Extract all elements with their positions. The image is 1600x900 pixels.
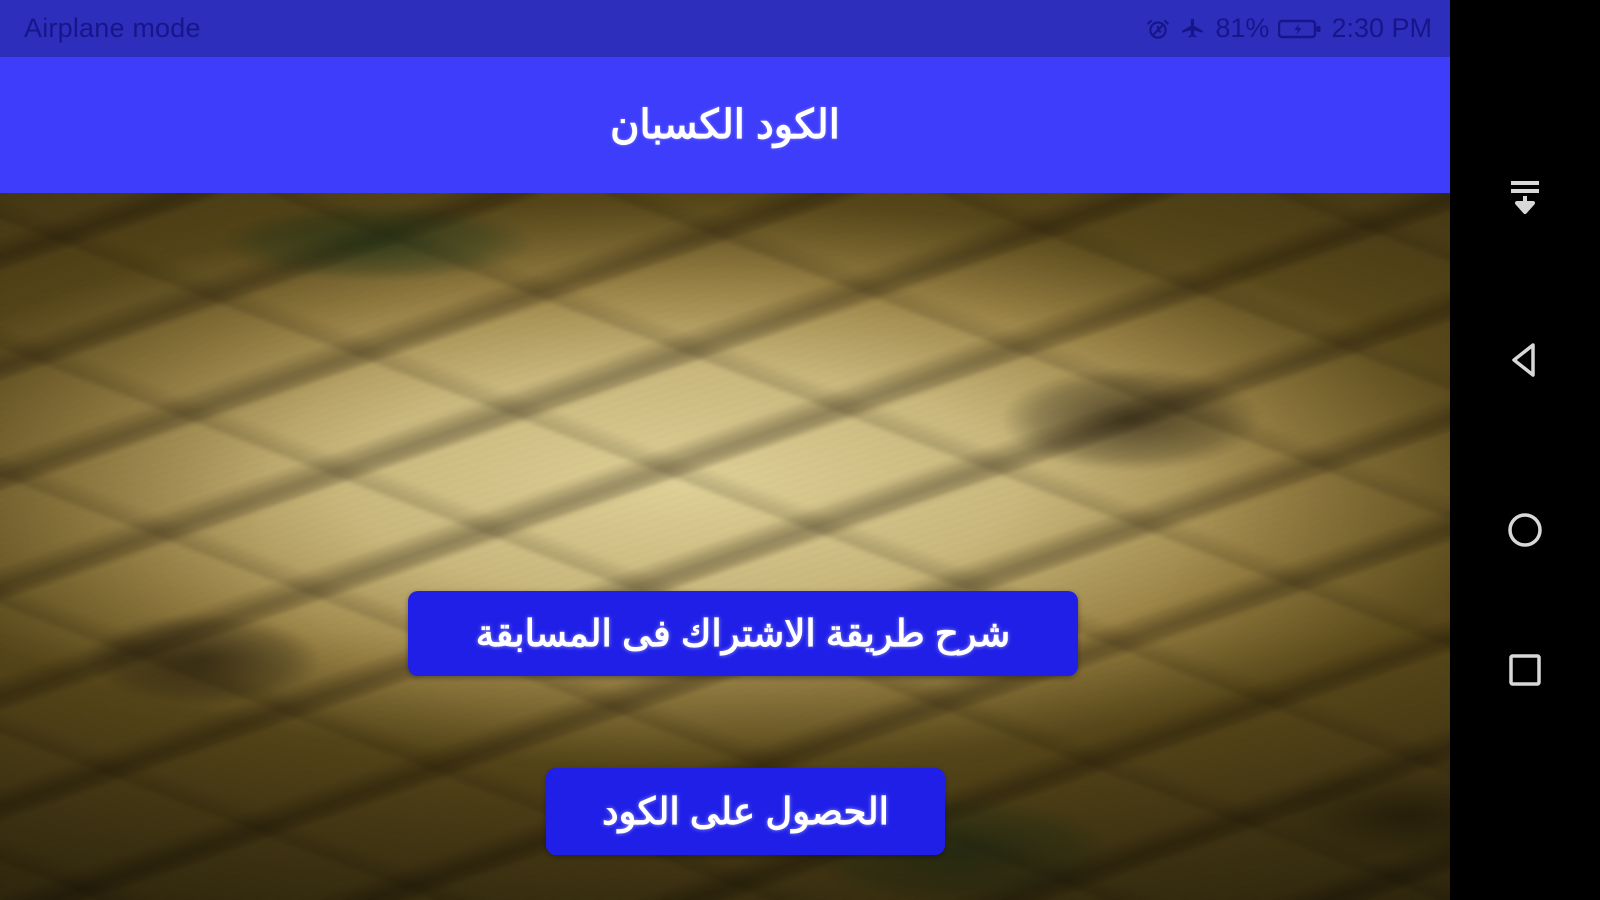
- status-bar-clock: 2:30 PM: [1331, 15, 1432, 42]
- explain-subscription-button[interactable]: شرح طريقة الاشتراك فى المسابقة: [408, 591, 1078, 676]
- app-title: الكود الكسبان: [610, 102, 840, 148]
- android-navigation-bar: [1450, 0, 1600, 900]
- status-bar-left-text: Airplane mode: [24, 13, 201, 44]
- recents-square-icon: [1504, 649, 1546, 691]
- back-triangle-icon: [1504, 339, 1546, 381]
- alarm-clock-icon: [1145, 16, 1171, 42]
- hide-navbar-button[interactable]: [1450, 160, 1600, 240]
- back-button[interactable]: [1450, 320, 1600, 400]
- app-bar: الكود الكسبان: [0, 57, 1450, 193]
- main-content: شرح طريقة الاشتراك فى المسابقة الحصول عل…: [0, 193, 1450, 900]
- battery-percent-text: 81%: [1215, 15, 1269, 42]
- hide-navbar-icon: [1505, 178, 1545, 222]
- phone-viewport: Airplane mode 81%: [0, 0, 1450, 900]
- get-code-button[interactable]: الحصول على الكود: [546, 768, 945, 855]
- home-circle-icon: [1504, 509, 1546, 551]
- home-button[interactable]: [1450, 490, 1600, 570]
- status-bar: Airplane mode 81%: [0, 0, 1450, 57]
- phone-screenshot: Airplane mode 81%: [0, 0, 1600, 900]
- airplane-mode-icon: [1180, 16, 1206, 42]
- battery-charging-icon: [1278, 17, 1322, 41]
- status-bar-right-group: 81% 2:30 PM: [1145, 15, 1432, 42]
- recents-button[interactable]: [1450, 630, 1600, 710]
